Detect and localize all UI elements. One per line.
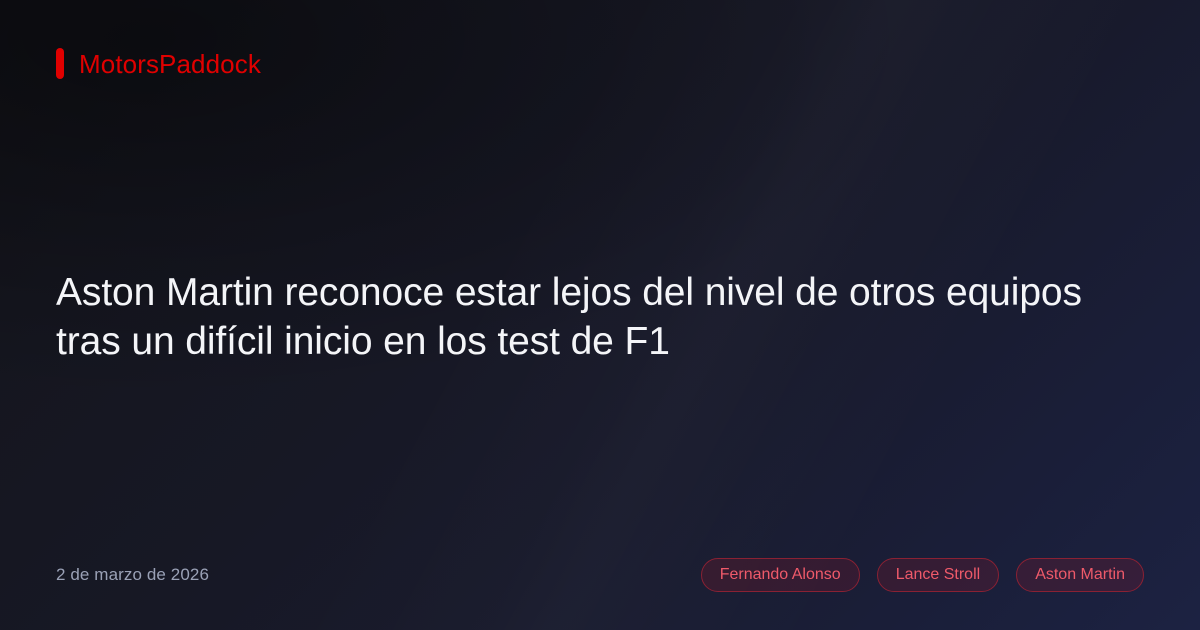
brand-logo[interactable]: MotorsPaddock <box>56 48 261 79</box>
card-content: MotorsPaddock Aston Martin reconoce esta… <box>0 0 1200 630</box>
social-share-card: MotorsPaddock Aston Martin reconoce esta… <box>0 0 1200 630</box>
card-footer: 2 de marzo de 2026 Fernando Alonso Lance… <box>56 558 1144 592</box>
tag-chip[interactable]: Fernando Alonso <box>701 558 860 592</box>
tag-list: Fernando Alonso Lance Stroll Aston Marti… <box>701 558 1144 592</box>
page-title: Aston Martin reconoce estar lejos del ni… <box>56 268 1121 366</box>
brand-name-label: MotorsPaddock <box>79 51 261 77</box>
publish-date: 2 de marzo de 2026 <box>56 565 209 585</box>
brand-bar-icon <box>56 48 64 79</box>
tag-chip[interactable]: Lance Stroll <box>877 558 1000 592</box>
tag-chip[interactable]: Aston Martin <box>1016 558 1144 592</box>
